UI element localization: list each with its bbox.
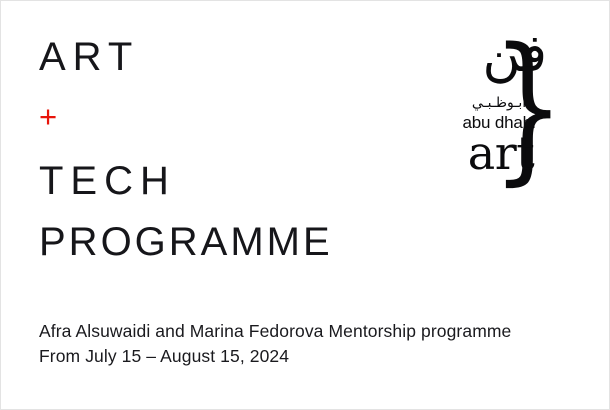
headline-block: ART + TECH PROGRAMME: [39, 37, 439, 262]
logo-arabic-city: أبـوظـبـي: [453, 96, 545, 111]
headline-tech: TECH: [39, 161, 439, 201]
headline-art: ART: [39, 37, 439, 77]
credits-block: Afra Alsuwaidi and Marina Fedorova Mento…: [39, 319, 584, 370]
poster-canvas: ART + TECH PROGRAMME } فن أبـوظـبـي abu …: [0, 0, 610, 410]
logo-latin-word: art: [455, 130, 547, 176]
headline-programme: PROGRAMME: [39, 222, 439, 262]
credits-programme-line: Afra Alsuwaidi and Marina Fedorova Mento…: [39, 319, 584, 344]
headline-plus-symbol: +: [39, 101, 439, 132]
credits-date-line: From July 15 – August 15, 2024: [39, 344, 584, 369]
abu-dhabi-art-logo: } فن أبـوظـبـي abu dhabi art: [453, 34, 565, 180]
logo-arabic-word: فن: [455, 28, 547, 80]
